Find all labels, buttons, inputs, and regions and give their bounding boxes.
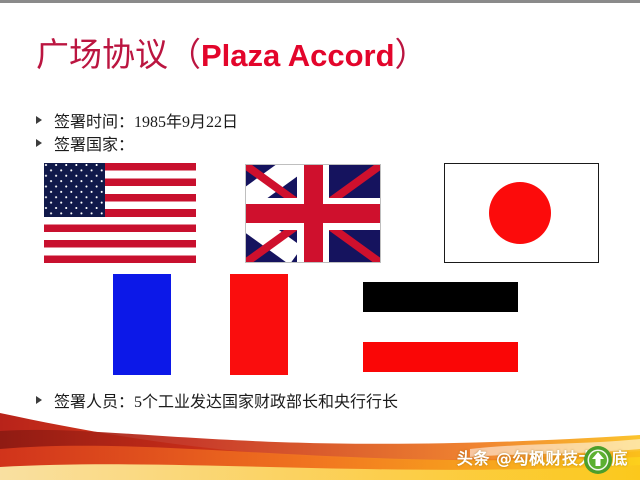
triangle-bullet-icon xyxy=(36,396,42,404)
top-divider xyxy=(0,0,640,3)
france-flag-white-band xyxy=(171,274,229,375)
bullet-text: 签署时间：1985年9月22日 xyxy=(54,108,238,132)
page-title: 广场协议（Plaza Accord） xyxy=(36,36,428,76)
triangle-bullet-icon xyxy=(36,116,42,124)
flag-united-states xyxy=(44,163,196,263)
bullet-signing-date: 签署时间：1985年9月22日 xyxy=(36,108,238,132)
bullet-signing-countries: 签署国家： xyxy=(36,131,134,155)
toutiao-arrow-logo-icon xyxy=(582,444,614,476)
france-flag-red-band xyxy=(230,274,288,375)
us-flag-canton xyxy=(44,163,105,217)
us-flag-stars-row-b xyxy=(44,163,105,217)
germany-flag-black-band xyxy=(363,282,518,312)
triangle-bullet-icon xyxy=(36,139,42,147)
title-english: Plaza Accord xyxy=(201,38,395,73)
flag-united-kingdom xyxy=(246,165,380,262)
title-chinese: 广场协议 xyxy=(36,38,168,74)
title-paren-close: ） xyxy=(395,38,428,74)
france-flag-blue-band xyxy=(113,274,171,375)
bullet-text: 签署国家： xyxy=(54,131,134,155)
germany-flag-white-band xyxy=(363,312,518,342)
germany-flag-red-band xyxy=(363,342,518,372)
title-paren-open: （ xyxy=(168,38,201,74)
flag-japan xyxy=(444,163,599,263)
uk-flag-cross-red-horizontal xyxy=(246,204,380,223)
japan-flag-red-disc xyxy=(489,182,551,244)
flag-france xyxy=(113,274,288,375)
flag-germany xyxy=(363,282,518,372)
slide-canvas: 广场协议（Plaza Accord） 签署时间：1985年9月22日 签署国家：… xyxy=(0,0,640,480)
